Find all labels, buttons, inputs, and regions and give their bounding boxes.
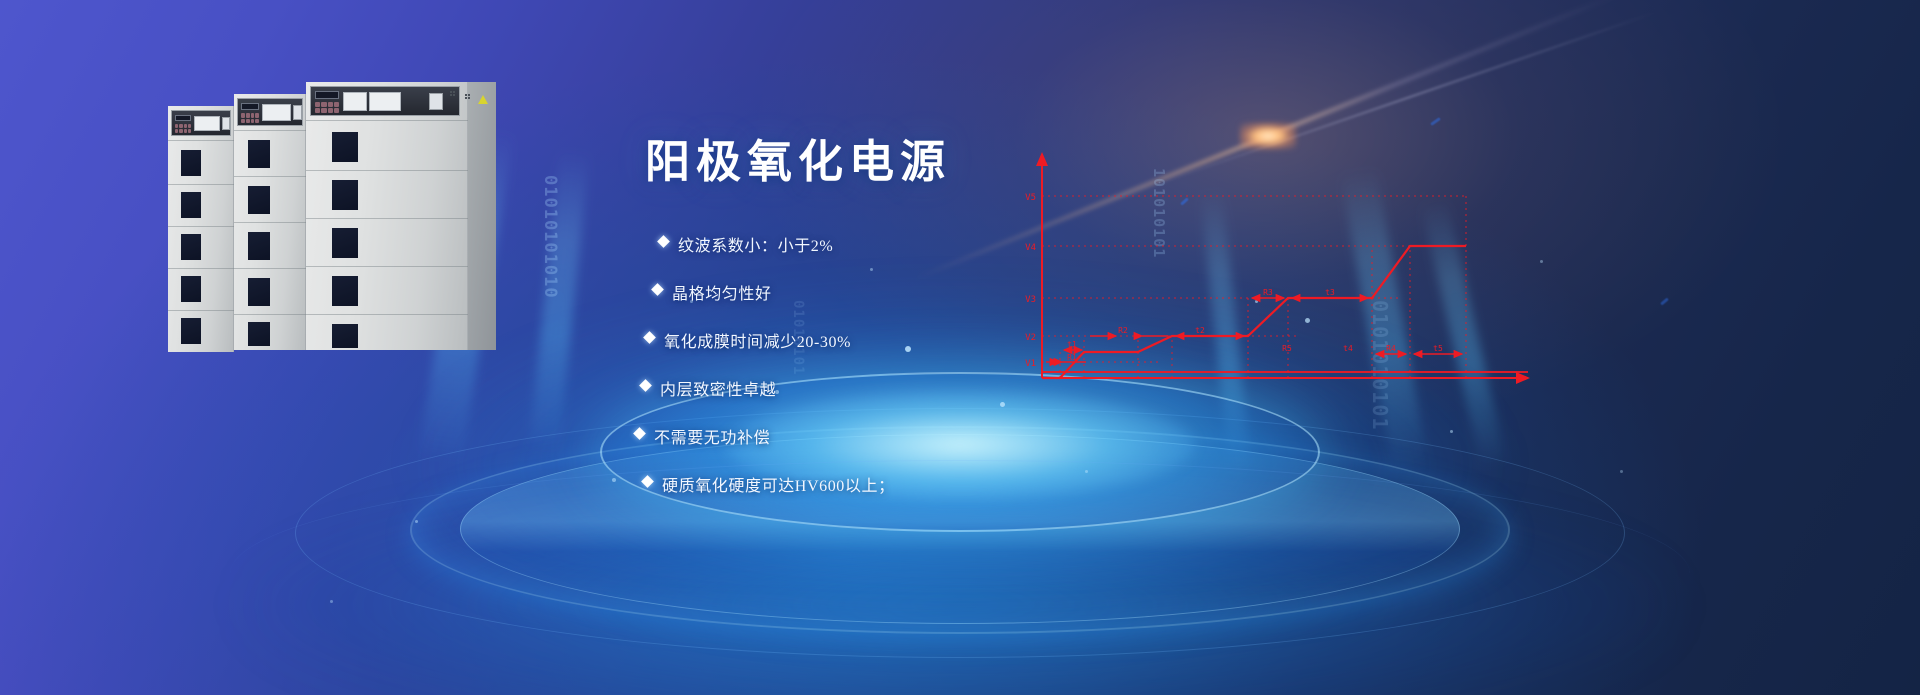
list-item: 硬质氧化硬度可达HV600以上； [643, 472, 1209, 520]
cabinet-side-face [468, 82, 496, 350]
cabinet-seam [168, 184, 234, 185]
list-item-label: 硬质氧化硬度可达HV600以上； [662, 472, 895, 496]
cabinet-seam [306, 314, 468, 315]
cabinet-vent [248, 140, 270, 168]
cabinet-display [241, 103, 259, 110]
cabinet-label-card [194, 116, 220, 131]
cabinet-vent [248, 186, 270, 214]
cabinet-seam [234, 314, 306, 315]
cabinet-brand-dots [465, 94, 470, 99]
segment-label: t1 [1067, 340, 1077, 349]
cabinet-seam [306, 120, 468, 121]
cabinet-vent [181, 192, 201, 218]
cabinet-seam [234, 130, 306, 131]
y-tick-label: V5 [1025, 193, 1036, 203]
diamond-bullet-icon [633, 427, 646, 440]
particle [1540, 260, 1543, 263]
cabinet-seam [234, 222, 306, 223]
warning-triangle-icon [478, 95, 488, 104]
segment-label: t5 [1433, 344, 1443, 353]
cabinet-vent [248, 322, 270, 346]
list-item-label: 氧化成膜时间减少20-30% [664, 328, 851, 352]
cabinet-vent [332, 180, 358, 210]
chart-gridlines [1042, 196, 1466, 378]
cabinet-vent [332, 324, 358, 348]
cabinet-unit-3 [306, 82, 468, 350]
cabinet-vent [332, 276, 358, 306]
cabinet-vent [248, 278, 270, 306]
cabinet-keypad [241, 113, 259, 123]
cabinet-seam [306, 266, 468, 267]
cabinet-meter [293, 105, 302, 120]
cabinet-seam [234, 176, 306, 177]
cabinet-seam [168, 226, 234, 227]
segment-label: t4 [1343, 344, 1353, 353]
voltage-waveform-chart: V1 V2 V3 V4 V5 R1 t1 [1000, 140, 1540, 400]
cabinet-keypad [315, 102, 339, 113]
cabinet-vent [332, 132, 358, 162]
cabinet-indicator-dots [450, 91, 455, 96]
light-shard [1660, 297, 1669, 305]
list-item-label: 纹波系数小：小于2% [678, 232, 833, 256]
cabinet-display [315, 91, 339, 99]
particle [415, 520, 418, 523]
cabinet-label-card [343, 92, 367, 111]
particle [1620, 470, 1623, 473]
y-tick-label: V2 [1025, 333, 1036, 343]
cabinet-control-panel [237, 98, 303, 126]
list-item-label: 不需要无功补偿 [654, 424, 770, 448]
banner-root: 01010101010 101010101 0101010101 0101010… [0, 0, 1920, 695]
diamond-bullet-icon [643, 331, 656, 344]
y-axis-tick-labels: V1 V2 V3 V4 V5 [1025, 193, 1036, 369]
segment-label: R2 [1118, 326, 1128, 335]
segment-label: t2 [1195, 326, 1205, 335]
y-tick-label: V3 [1025, 295, 1036, 305]
light-shard [1430, 117, 1441, 126]
cabinet-unit-1 [168, 106, 234, 352]
cabinet-seam [306, 170, 468, 171]
cabinet-seam [168, 140, 234, 141]
cabinet-vent [181, 234, 201, 260]
cabinet-seam [306, 218, 468, 219]
cabinet-seam [168, 310, 234, 311]
diamond-bullet-icon [651, 283, 664, 296]
list-item-label: 晶格均匀性好 [672, 280, 772, 304]
cabinet-label-card [369, 92, 401, 111]
page-title: 阳极氧化电源 [645, 140, 951, 185]
segment-label: t3 [1325, 288, 1335, 297]
chart-svg: V1 V2 V3 V4 V5 R1 t1 [1000, 140, 1540, 400]
segment-label: R4 [1386, 344, 1396, 353]
cabinet-body [168, 106, 234, 352]
cabinet-label-card [262, 104, 291, 121]
segment-label: R1 [1067, 353, 1077, 362]
cabinet-display [175, 115, 191, 121]
list-item-label: 内层致密性卓越 [660, 376, 776, 400]
cabinet-body [306, 82, 468, 350]
y-tick-label: V1 [1025, 359, 1036, 369]
list-item: 不需要无功补偿 [635, 424, 1209, 472]
cabinet-vent [248, 232, 270, 260]
cabinet-vent [332, 228, 358, 258]
waveform-line [1042, 246, 1466, 378]
segment-label: R5 [1282, 344, 1292, 353]
cabinet-vent [181, 150, 201, 176]
y-tick-label: V4 [1025, 243, 1036, 253]
cabinet-keypad [175, 124, 191, 133]
diamond-bullet-icon [639, 379, 652, 392]
cabinet-vent [181, 318, 201, 344]
segment-label: R3 [1263, 288, 1273, 297]
cabinet-vent [181, 276, 201, 302]
cabinet-seam [168, 268, 234, 269]
cabinet-meter [429, 93, 443, 110]
particle [1450, 430, 1453, 433]
cabinet-control-panel [171, 110, 231, 136]
cabinet-meter [222, 117, 230, 130]
cabinet-seam [234, 268, 306, 269]
diamond-bullet-icon [657, 235, 670, 248]
particle [612, 478, 616, 482]
particle [330, 600, 333, 603]
diamond-bullet-icon [641, 475, 654, 488]
equipment-cabinets [168, 82, 488, 382]
cabinet-control-panel [310, 86, 460, 116]
cabinet-unit-2 [234, 94, 306, 350]
